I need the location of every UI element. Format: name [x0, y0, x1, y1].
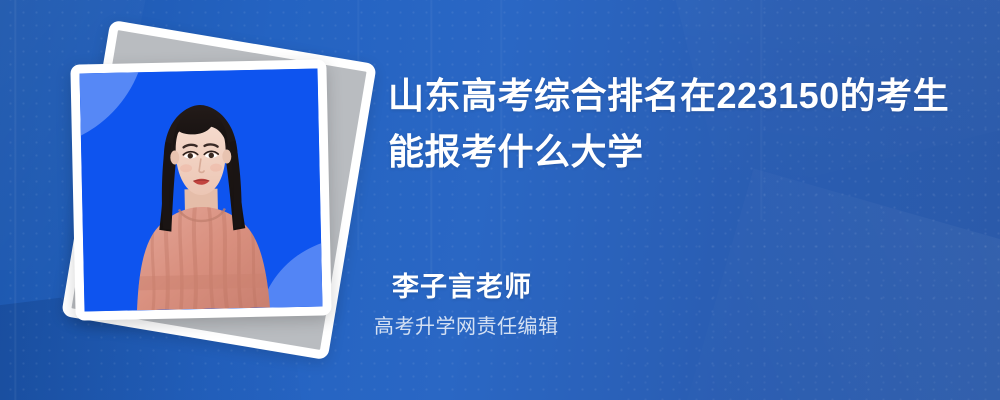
photo-backdrop [80, 69, 323, 312]
photo-card-stack [52, 38, 352, 348]
author-name: 李子言老师 [392, 270, 559, 304]
author-portrait-image [107, 95, 296, 311]
headline-block: 山东高考综合排名在223150的考生能报考什么大学 [388, 68, 968, 180]
author-block: 李子言老师 高考升学网责任编辑 [392, 270, 559, 340]
background-dot-grid-right [620, 0, 1000, 400]
banner-headline: 山东高考综合排名在223150的考生能报考什么大学 [388, 68, 968, 180]
author-role: 高考升学网责任编辑 [374, 314, 559, 340]
promo-banner: 山东高考综合排名在223150的考生能报考什么大学 李子言老师 高考升学网责任编… [0, 0, 1000, 400]
background-wedge-bottom-right [663, 169, 1000, 400]
photo-card-front [70, 59, 331, 320]
